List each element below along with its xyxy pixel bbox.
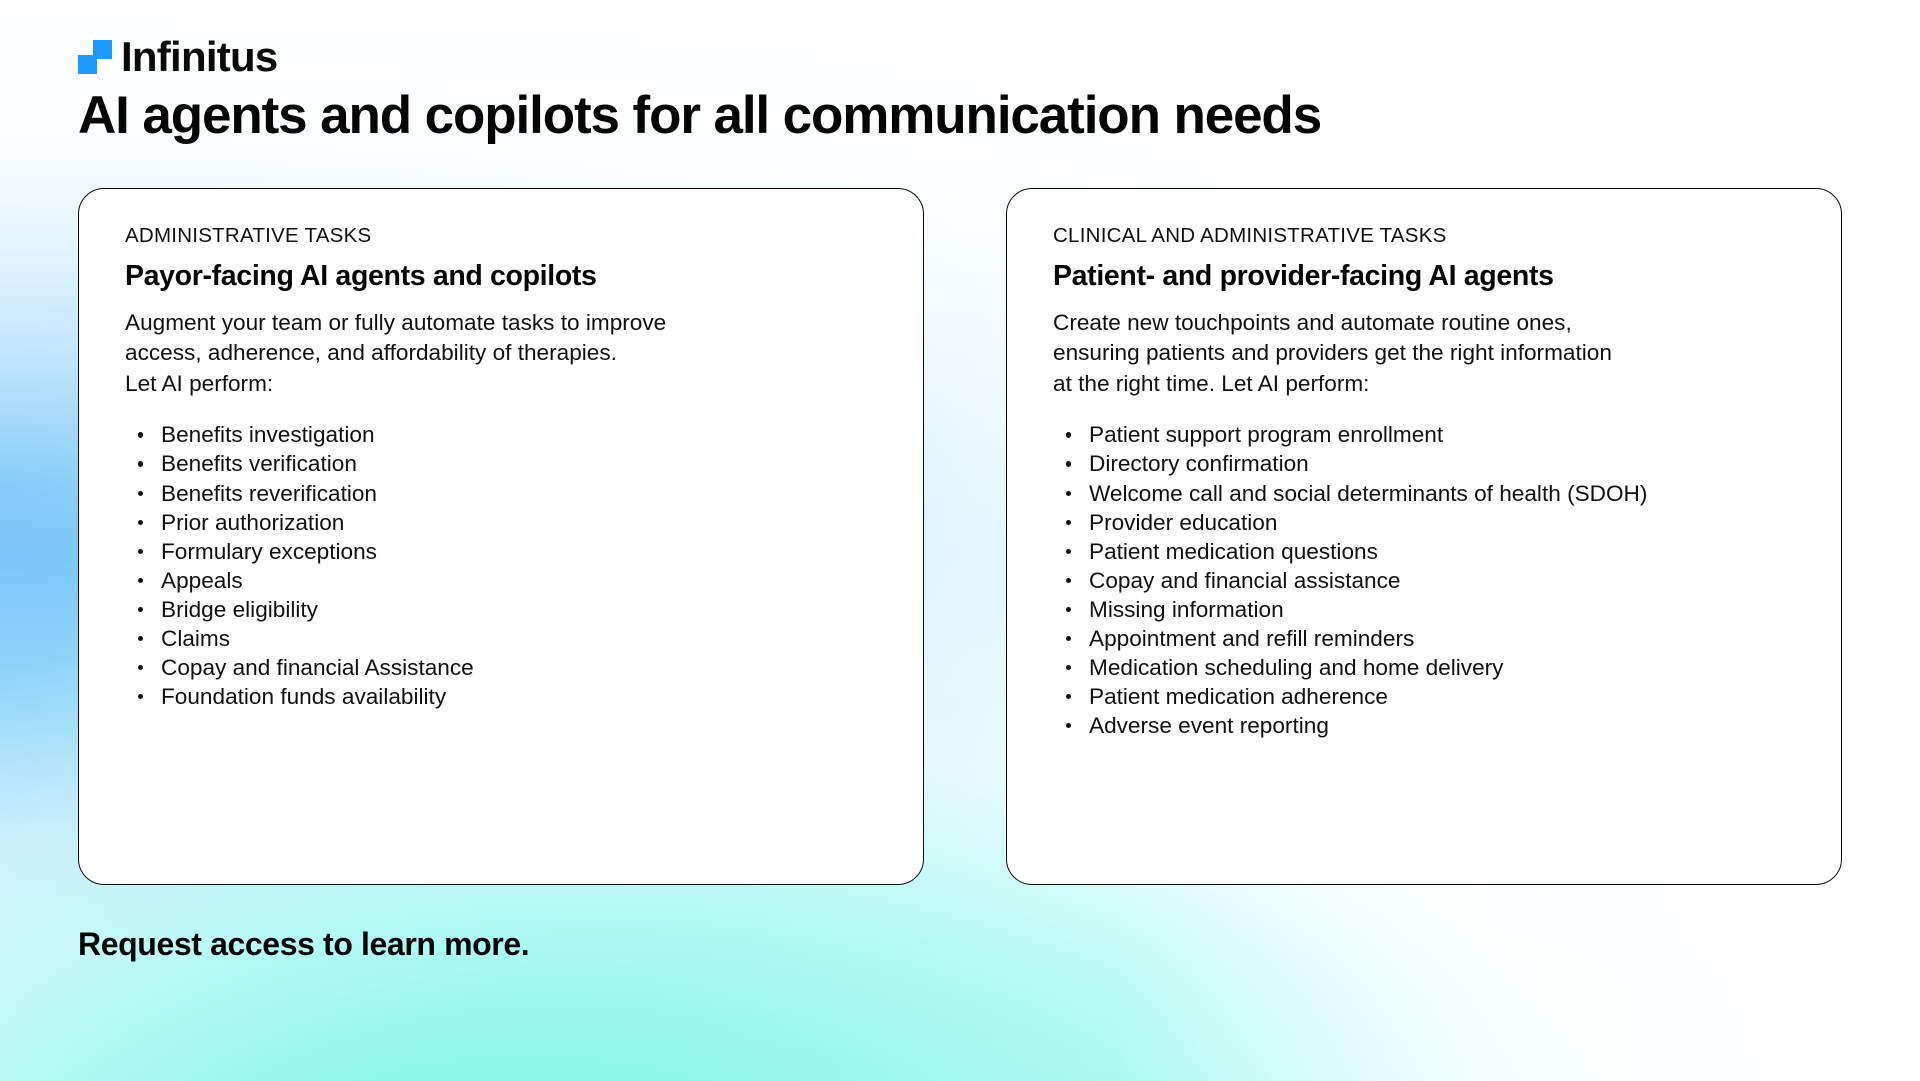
bullet-dot-icon [1066, 665, 1071, 670]
card-eyebrow: CLINICAL AND ADMINISTRATIVE TASKS [1053, 224, 1813, 249]
list-item: Missing information [1053, 595, 1813, 624]
card-eyebrow: ADMINISTRATIVE TASKS [125, 224, 885, 249]
card-payor-facing: ADMINISTRATIVE TASKS Payor-facing AI age… [78, 188, 924, 885]
bullet-dot-icon [138, 520, 143, 525]
list-item-label: Claims [161, 626, 230, 651]
list-item: Welcome call and social determinants of … [1053, 479, 1813, 508]
list-item-label: Patient support program enrollment [1089, 422, 1443, 447]
infinitus-logo-mark-icon [78, 40, 112, 74]
card-description-line: Augment your team or fully automate task… [125, 308, 885, 339]
page-title: AI agents and copilots for all communica… [78, 88, 1842, 144]
list-item: Copay and financial Assistance [125, 653, 885, 682]
bullet-dot-icon [138, 665, 143, 670]
bullet-dot-icon [1066, 607, 1071, 612]
list-item-label: Medication scheduling and home delivery [1089, 655, 1503, 680]
slide-root: Infinitus AI agents and copilots for all… [0, 0, 1920, 1081]
card-description: Augment your team or fully automate task… [125, 308, 885, 400]
list-item-label: Bridge eligibility [161, 597, 318, 622]
list-item: Formulary exceptions [125, 537, 885, 566]
list-item: Foundation funds availability [125, 682, 885, 711]
list-item-label: Appointment and refill reminders [1089, 626, 1414, 651]
brand-wordmark: Infinitus [121, 36, 278, 78]
bullet-dot-icon [1066, 549, 1071, 554]
bullet-dot-icon [138, 432, 143, 437]
list-item-label: Benefits reverification [161, 481, 377, 506]
card-description: Create new touchpoints and automate rout… [1053, 308, 1813, 400]
list-item-label: Adverse event reporting [1089, 713, 1329, 738]
list-item: Provider education [1053, 508, 1813, 537]
list-item: Adverse event reporting [1053, 711, 1813, 740]
list-item: Benefits verification [125, 449, 885, 478]
list-item-label: Provider education [1089, 510, 1277, 535]
list-item: Directory confirmation [1053, 449, 1813, 478]
list-item: Prior authorization [125, 508, 885, 537]
list-item: Bridge eligibility [125, 595, 885, 624]
list-item: Patient medication questions [1053, 537, 1813, 566]
bullet-dot-icon [1066, 491, 1071, 496]
list-item-label: Patient medication questions [1089, 539, 1378, 564]
slide-content: Infinitus AI agents and copilots for all… [0, 0, 1920, 964]
cards-container: ADMINISTRATIVE TASKS Payor-facing AI age… [78, 188, 1842, 885]
list-item-label: Benefits verification [161, 451, 357, 476]
list-item-label: Copay and financial Assistance [161, 655, 474, 680]
list-item: Benefits reverification [125, 479, 885, 508]
list-item: Appeals [125, 566, 885, 595]
list-item: Appointment and refill reminders [1053, 624, 1813, 653]
list-item: Patient support program enrollment [1053, 420, 1813, 449]
list-item-label: Formulary exceptions [161, 539, 377, 564]
list-item-label: Benefits investigation [161, 422, 375, 447]
bullet-dot-icon [1066, 432, 1071, 437]
logo-square-bottom-left [78, 55, 97, 74]
bullet-dot-icon [138, 578, 143, 583]
card-title: Payor-facing AI agents and copilots [125, 259, 885, 293]
list-item: Copay and financial assistance [1053, 566, 1813, 595]
list-item-label: Missing information [1089, 597, 1284, 622]
card-bullet-list: Benefits investigation Benefits verifica… [125, 420, 885, 710]
card-description-line: at the right time. Let AI perform: [1053, 369, 1813, 400]
list-item-label: Foundation funds availability [161, 684, 446, 709]
list-item: Benefits investigation [125, 420, 885, 449]
list-item: Claims [125, 624, 885, 653]
bullet-dot-icon [1066, 578, 1071, 583]
list-item-label: Patient medication adherence [1089, 684, 1388, 709]
card-description-line: Create new touchpoints and automate rout… [1053, 308, 1813, 339]
card-patient-provider-facing: CLINICAL AND ADMINISTRATIVE TASKS Patien… [1006, 188, 1842, 885]
cta-request-access[interactable]: Request access to learn more. [78, 925, 1842, 963]
bullet-dot-icon [138, 549, 143, 554]
card-description-line: access, adherence, and affordability of … [125, 338, 885, 369]
card-title: Patient- and provider-facing AI agents [1053, 259, 1813, 293]
list-item-label: Welcome call and social determinants of … [1089, 481, 1647, 506]
card-bullet-list: Patient support program enrollment Direc… [1053, 420, 1813, 739]
bullet-dot-icon [1066, 636, 1071, 641]
brand-logo: Infinitus [78, 0, 1842, 62]
bullet-dot-icon [1066, 461, 1071, 466]
list-item-label: Prior authorization [161, 510, 344, 535]
list-item-label: Copay and financial assistance [1089, 568, 1400, 593]
bullet-dot-icon [138, 461, 143, 466]
bullet-dot-icon [138, 694, 143, 699]
bullet-dot-icon [138, 491, 143, 496]
list-item: Medication scheduling and home delivery [1053, 653, 1813, 682]
bullet-dot-icon [138, 636, 143, 641]
bullet-dot-icon [1066, 694, 1071, 699]
card-description-line: ensuring patients and providers get the … [1053, 338, 1813, 369]
list-item-label: Appeals [161, 568, 243, 593]
bullet-dot-icon [138, 607, 143, 612]
card-description-line: Let AI perform: [125, 369, 885, 400]
list-item-label: Directory confirmation [1089, 451, 1309, 476]
bullet-dot-icon [1066, 520, 1071, 525]
bullet-dot-icon [1066, 723, 1071, 728]
list-item: Patient medication adherence [1053, 682, 1813, 711]
